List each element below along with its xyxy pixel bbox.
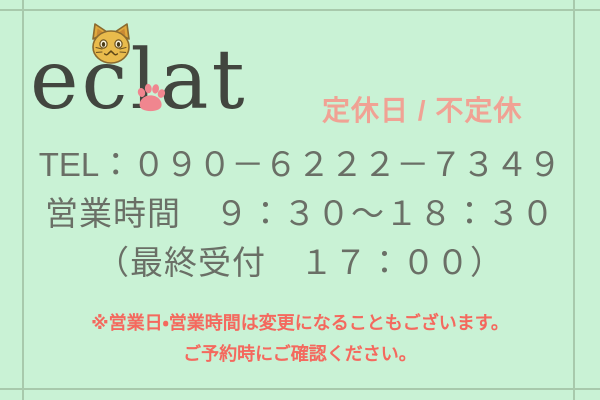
footnote-line-2: ご予約時にご確認ください。 [0,339,600,370]
footnote-line-1: ※営業日・営業時間は変更になることもございます。 [0,308,600,339]
last-reception-line: （最終受付 １７：００） [0,238,600,287]
frame-line-top [0,9,600,11]
logo-row: eclat [0,22,600,130]
brand-logo: eclat [30,36,310,126]
business-hours-line: 営業時間 ９：３０〜１８：３０ [0,189,600,238]
business-info-card: eclat [0,0,600,400]
telephone-line: TEL：０９０－６２２２－７３４９ [0,140,600,189]
footnote-block: ※営業日・営業時間は変更になることもございます。 ご予約時にご確認ください。 [0,308,600,370]
paw-print-icon [134,82,166,114]
cat-face-icon [87,22,135,66]
frame-line-bottom [0,388,600,390]
closed-days-label: 定休日 / 不定休 [322,94,522,128]
contact-hours-block: TEL：０９０－６２２２－７３４９ 営業時間 ９：３０〜１８：３０ （最終受付 … [0,140,600,287]
